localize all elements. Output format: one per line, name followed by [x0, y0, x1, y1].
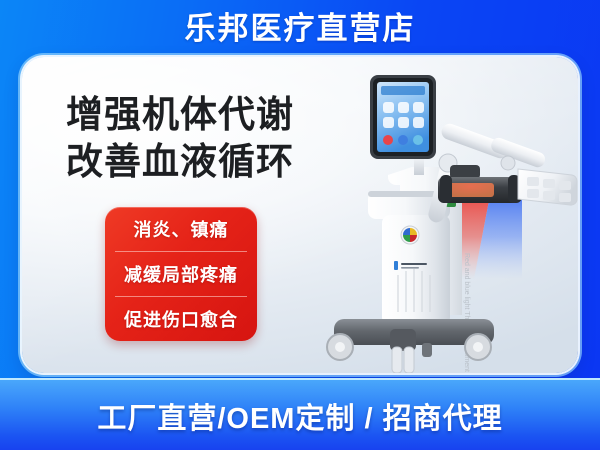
- footer-slogan: 工厂直营/OEM定制 / 招商代理: [97, 395, 502, 437]
- main-content-panel: Red and blue light Therapy Instrument: [22, 57, 578, 373]
- headline-line-1: 增强机体代谢: [66, 92, 294, 139]
- benefit-item-1: 消炎、镇痛: [105, 207, 257, 251]
- headline-line-2: 改善血液循环: [66, 139, 294, 186]
- device-illustration: Red and blue light Therapy Instrument: [322, 57, 578, 373]
- headline-block: 增强机体代谢 改善血液循环: [66, 92, 294, 185]
- screen-status-icons: [383, 135, 423, 145]
- led-therapy-head: [438, 165, 522, 203]
- benefit-item-3: 促进伤口愈合: [115, 296, 247, 341]
- monitor: [370, 75, 436, 159]
- footer-banner: 工厂直营/OEM定制 / 招商代理: [0, 378, 600, 450]
- promo-poster: 乐邦医疗直营店: [0, 0, 600, 450]
- led-side-panel: [518, 169, 577, 205]
- poster-header: 乐邦医疗直营店: [0, 0, 600, 57]
- store-name-title: 乐邦医疗直营店: [185, 13, 416, 44]
- benefits-box: 消炎、镇痛 减缓局部疼痛 促进伤口愈合: [105, 207, 257, 341]
- benefit-item-2: 减缓局部疼痛: [115, 251, 247, 296]
- device-emblem: [401, 226, 419, 244]
- therapy-machine-svg: Red and blue light Therapy Instrument: [322, 57, 578, 373]
